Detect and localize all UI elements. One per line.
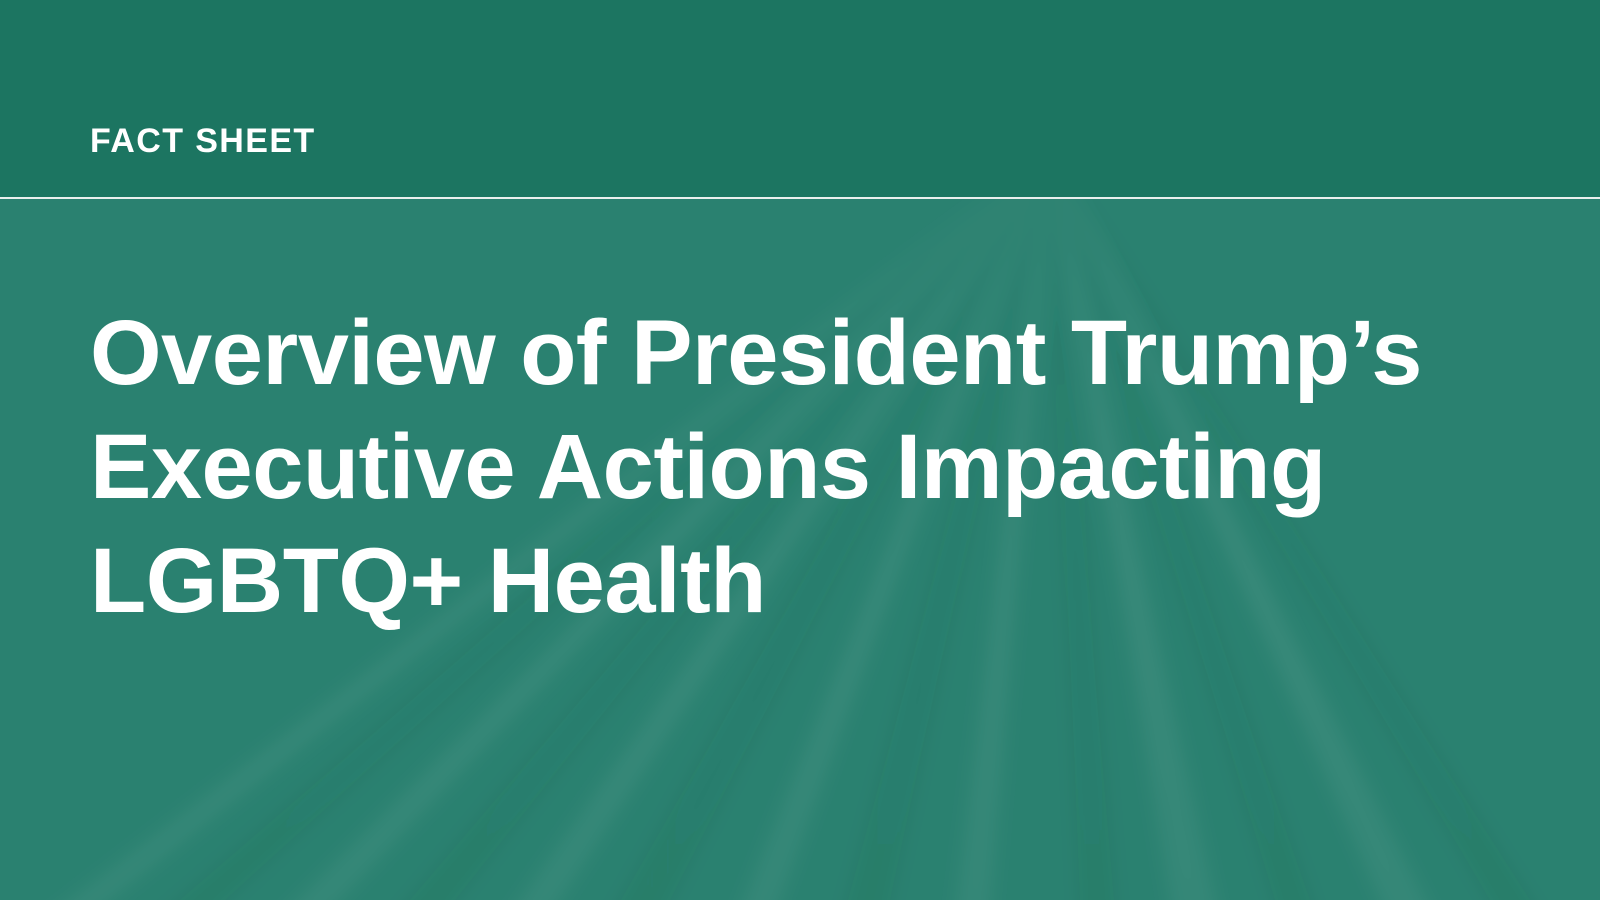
page-title: Overview of President Trump’s Executive … <box>90 296 1490 638</box>
header-band <box>0 0 1600 197</box>
eyebrow-label: FACT SHEET <box>90 121 316 161</box>
header-divider <box>0 197 1600 199</box>
fact-sheet-hero-card: FACT SHEET Overview of President Trump’s… <box>0 0 1600 900</box>
